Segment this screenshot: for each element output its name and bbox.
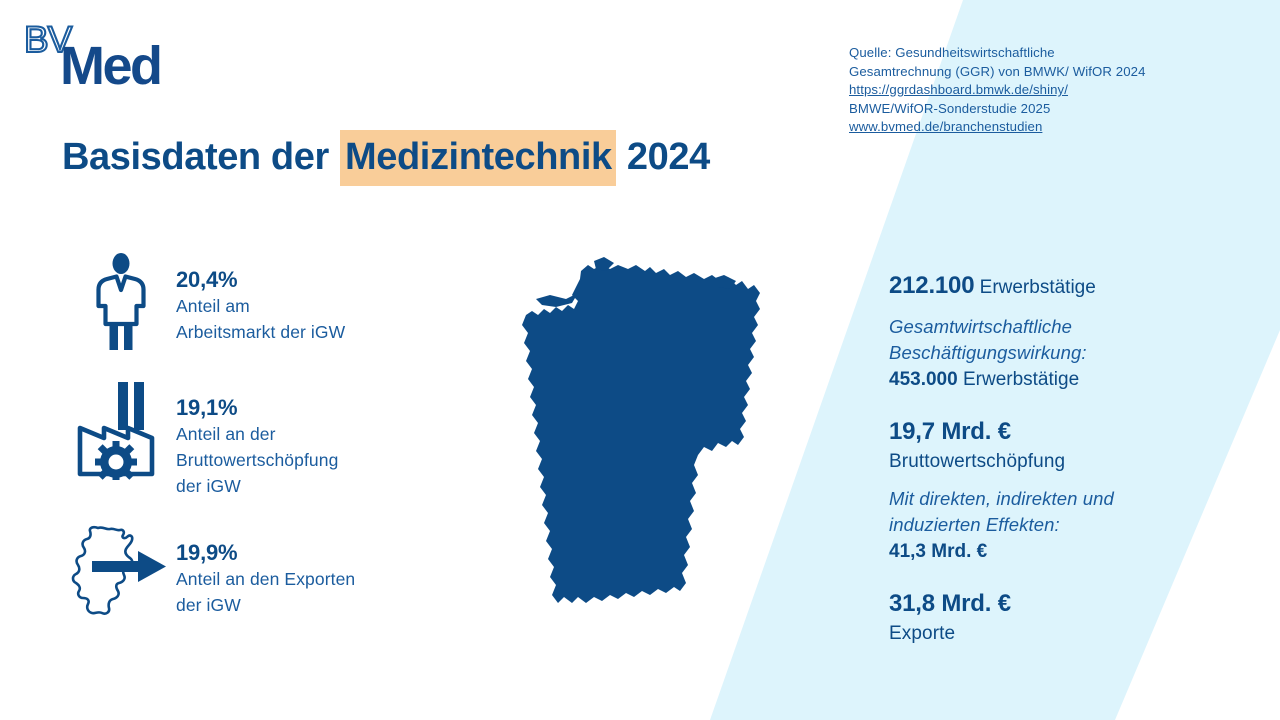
stat-text-block: 20,4% Anteil am Arbeitsmarkt der iGW xyxy=(176,252,345,345)
right-stat-number: 212.100 xyxy=(889,272,974,299)
logo-text-med: Med xyxy=(60,36,161,96)
stat-label-line: der iGW xyxy=(176,473,338,499)
source-citation: Quelle: Gesundheitswirtschaftliche Gesam… xyxy=(849,44,1209,137)
right-stat-number: 31,8 Mrd. € xyxy=(889,590,1011,617)
right-stat-subtitle: Bruttowertschöpfung xyxy=(889,448,1199,476)
right-stat-unit-label: Erwerbstätige xyxy=(980,277,1096,298)
right-stat-block-exports: 31,8 Mrd. € Exporte xyxy=(889,588,1199,648)
stat-icon-slot xyxy=(66,380,176,480)
right-stat-italic-line: Gesamtwirtschaftliche xyxy=(889,314,1199,340)
right-stat-italic-line: Mit direkten, indirekten und xyxy=(889,486,1199,512)
source-link-bvmed-branchenstudien[interactable]: www.bvmed.de/branchenstudien xyxy=(849,118,1209,137)
right-stat-headline: 19,7 Mrd. € xyxy=(889,416,1199,448)
right-stat-italic-number: 41,3 Mrd. € xyxy=(889,541,987,562)
stat-label-line: Arbeitsmarkt der iGW xyxy=(176,319,345,345)
stat-label-line: Anteil an der xyxy=(176,421,338,447)
stat-row: 19,9% Anteil an den Exporten der iGW xyxy=(66,525,466,618)
factory-icon xyxy=(74,380,168,480)
gear-shape xyxy=(95,441,137,480)
title-suffix: 2024 xyxy=(617,136,710,178)
source-line: BMWE/WifOR-Sonderstudie 2025 xyxy=(849,100,1209,119)
right-stat-headline: 212.100 Erwerbstätige xyxy=(889,270,1199,304)
stat-value: 19,9% xyxy=(176,539,355,566)
page-title: Basisdaten der Medizintechnik 2024 xyxy=(62,134,710,180)
germany-map xyxy=(498,255,770,647)
right-stat-headline: 31,8 Mrd. € xyxy=(889,588,1199,620)
right-stat-italic-line: induzierten Effekten: xyxy=(889,512,1199,538)
left-statistics-column: 20,4% Anteil am Arbeitsmarkt der iGW xyxy=(66,252,466,618)
stat-label-line: Bruttowertschöpfung xyxy=(176,447,338,473)
stat-label-line: Anteil an den Exporten xyxy=(176,566,355,592)
stat-label: Anteil an den Exporten der iGW xyxy=(176,566,355,618)
stat-label: Anteil an der Bruttowertschöpfung der iG… xyxy=(176,421,338,499)
stat-label-line: der iGW xyxy=(176,592,355,618)
stat-row: 20,4% Anteil am Arbeitsmarkt der iGW xyxy=(66,252,466,352)
right-statistics-column: 212.100 Erwerbstätige Gesamtwirtschaftli… xyxy=(889,270,1199,648)
stat-text-block: 19,1% Anteil an der Bruttowertschöpfung … xyxy=(176,380,338,499)
stat-label: Anteil am Arbeitsmarkt der iGW xyxy=(176,293,345,345)
right-stat-block-employment: 212.100 Erwerbstätige Gesamtwirtschaftli… xyxy=(889,270,1199,394)
source-line: Quelle: Gesundheitswirtschaftliche xyxy=(849,44,1209,63)
source-line: Gesamtrechnung (GGR) von BMWK/ WifOR 202… xyxy=(849,63,1209,82)
right-stat-block-gross-value-added: 19,7 Mrd. € Bruttowertschöpfung Mit dire… xyxy=(889,416,1199,566)
title-prefix: Basisdaten der xyxy=(62,136,339,178)
right-stat-number: 19,7 Mrd. € xyxy=(889,418,1011,445)
title-highlight-medizintechnik: Medizintechnik xyxy=(340,130,616,186)
stat-text-block: 19,9% Anteil an den Exporten der iGW xyxy=(176,525,355,618)
stat-label-line: Anteil am xyxy=(176,293,345,319)
right-stat-subtitle: Exporte xyxy=(889,620,1199,648)
right-stat-italic-value: 41,3 Mrd. € xyxy=(889,538,1199,566)
stat-icon-slot xyxy=(66,525,176,617)
stat-icon-slot xyxy=(66,252,176,352)
right-stat-italic-line: Beschäftigungswirkung: xyxy=(889,340,1199,366)
right-stat-italic-number: 453.000 xyxy=(889,369,958,390)
right-stat-italic-value: 453.000 Erwerbstätige xyxy=(889,366,1199,394)
right-stat-italic-unit: Erwerbstätige xyxy=(963,369,1079,390)
stat-row: 19,1% Anteil an der Bruttowertschöpfung … xyxy=(66,380,466,499)
germany-map-shape xyxy=(498,255,770,647)
source-link-ggr-dashboard[interactable]: https://ggrdashboard.bmwk.de/shiny/ xyxy=(849,81,1209,100)
stat-value: 19,1% xyxy=(176,394,338,421)
export-map-arrow-icon xyxy=(68,525,174,617)
worker-icon xyxy=(88,252,154,352)
stat-value: 20,4% xyxy=(176,266,345,293)
bvmed-logo[interactable]: BV Med xyxy=(22,18,212,98)
